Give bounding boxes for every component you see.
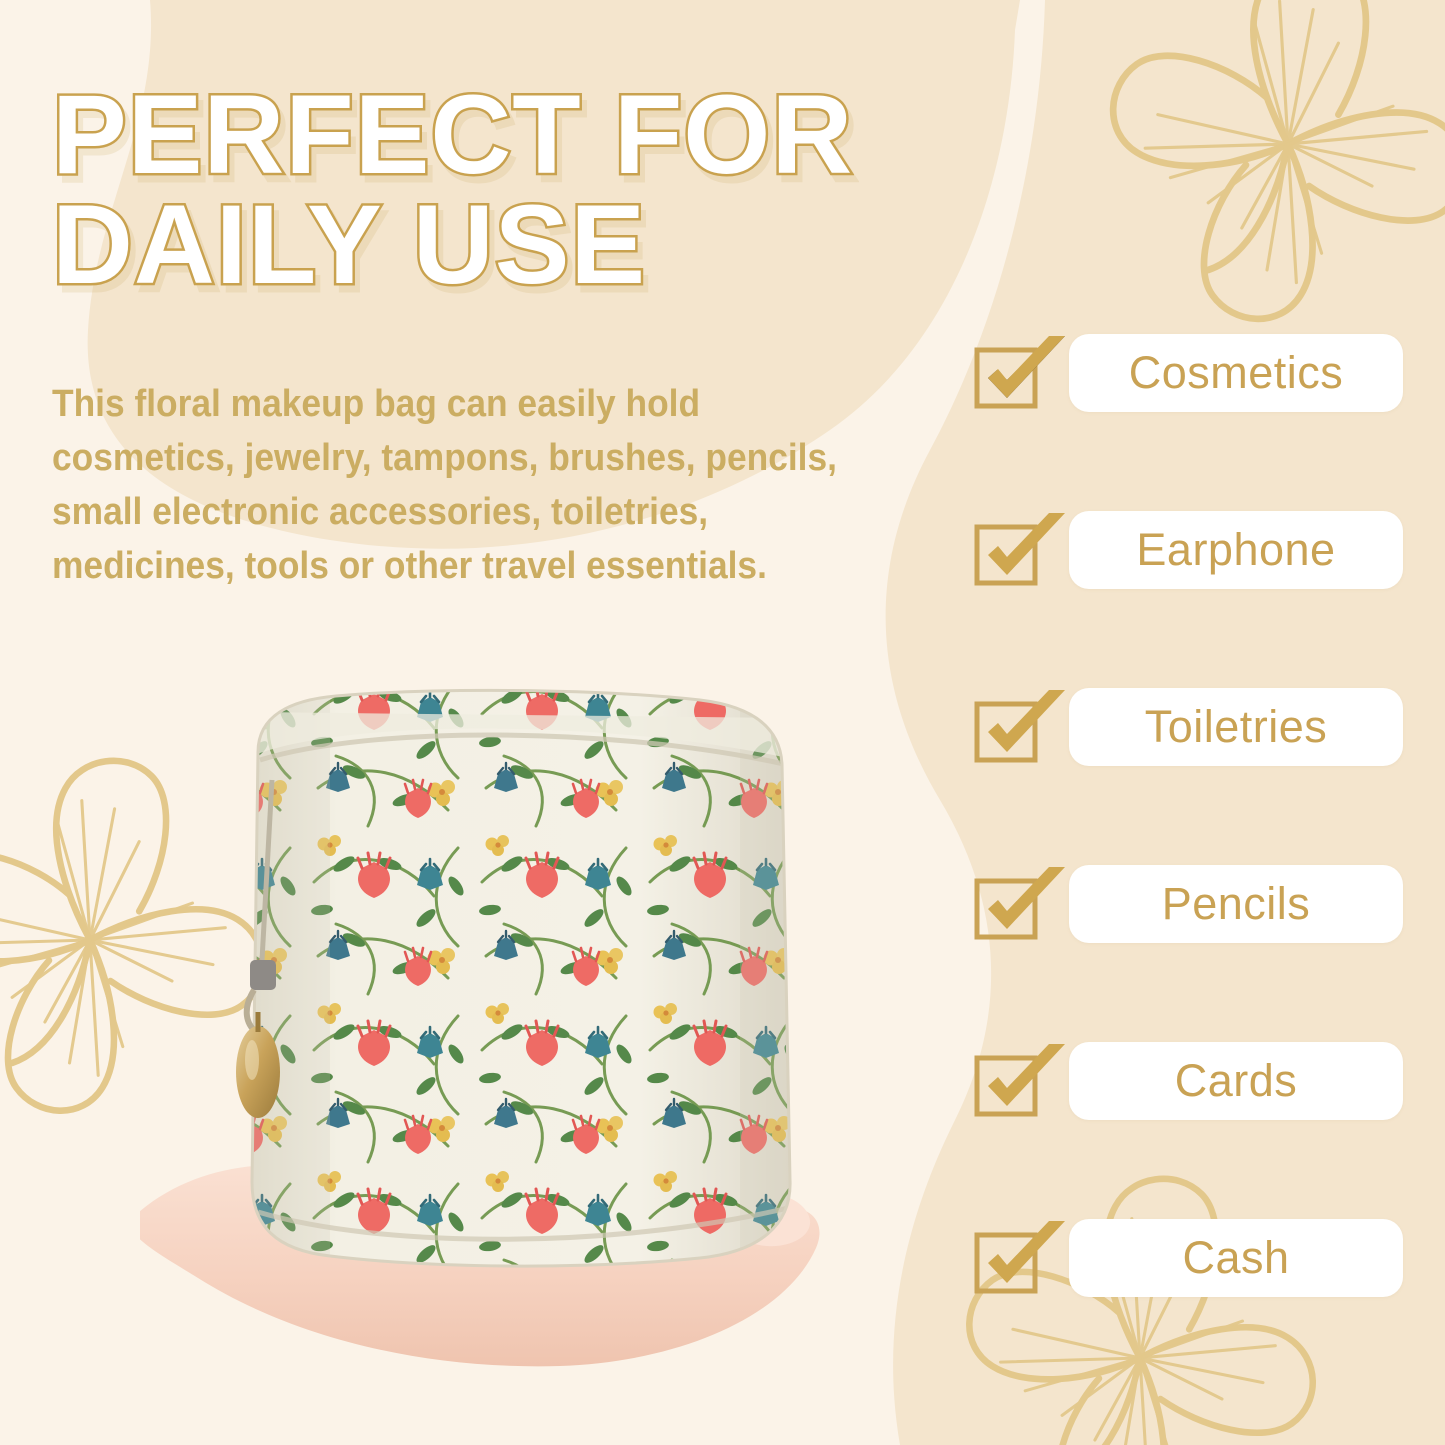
checked-checkbox-icon[interactable] bbox=[973, 334, 1069, 412]
description-text: This floral makeup bag can easily hold c… bbox=[52, 378, 889, 594]
checked-checkbox-icon[interactable] bbox=[973, 1219, 1069, 1297]
product-photo bbox=[140, 660, 900, 1380]
checklist-row-earphone[interactable]: Earphone bbox=[973, 511, 1403, 589]
checked-checkbox-icon[interactable] bbox=[973, 511, 1069, 589]
product-infographic: PERFECT FOR DAILY USE This floral makeup… bbox=[0, 0, 1445, 1445]
checked-checkbox-icon[interactable] bbox=[973, 865, 1069, 943]
checklist-row-toiletries[interactable]: Toiletries bbox=[973, 688, 1403, 766]
checklist-label: Cosmetics bbox=[1069, 334, 1403, 412]
checklist-label: Earphone bbox=[1069, 511, 1403, 589]
checklist-label: Pencils bbox=[1069, 865, 1403, 943]
checklist-label: Cash bbox=[1069, 1219, 1403, 1297]
checked-checkbox-icon[interactable] bbox=[973, 688, 1069, 766]
checklist-label: Toiletries bbox=[1069, 688, 1403, 766]
page-title: PERFECT FOR DAILY USE bbox=[52, 80, 1012, 300]
checklist-label: Cards bbox=[1069, 1042, 1403, 1120]
checked-checkbox-icon[interactable] bbox=[973, 1042, 1069, 1120]
flower-outline-top-right-icon bbox=[1073, 0, 1445, 354]
bag-body bbox=[240, 680, 830, 1280]
checklist-row-cash[interactable]: Cash bbox=[973, 1219, 1403, 1297]
checklist-row-pencils[interactable]: Pencils bbox=[973, 865, 1403, 943]
checklist-row-cosmetics[interactable]: Cosmetics bbox=[973, 334, 1403, 412]
checklist-row-cards[interactable]: Cards bbox=[973, 1042, 1403, 1120]
feature-checklist: Cosmetics Earphone Toiletries bbox=[973, 334, 1403, 1297]
